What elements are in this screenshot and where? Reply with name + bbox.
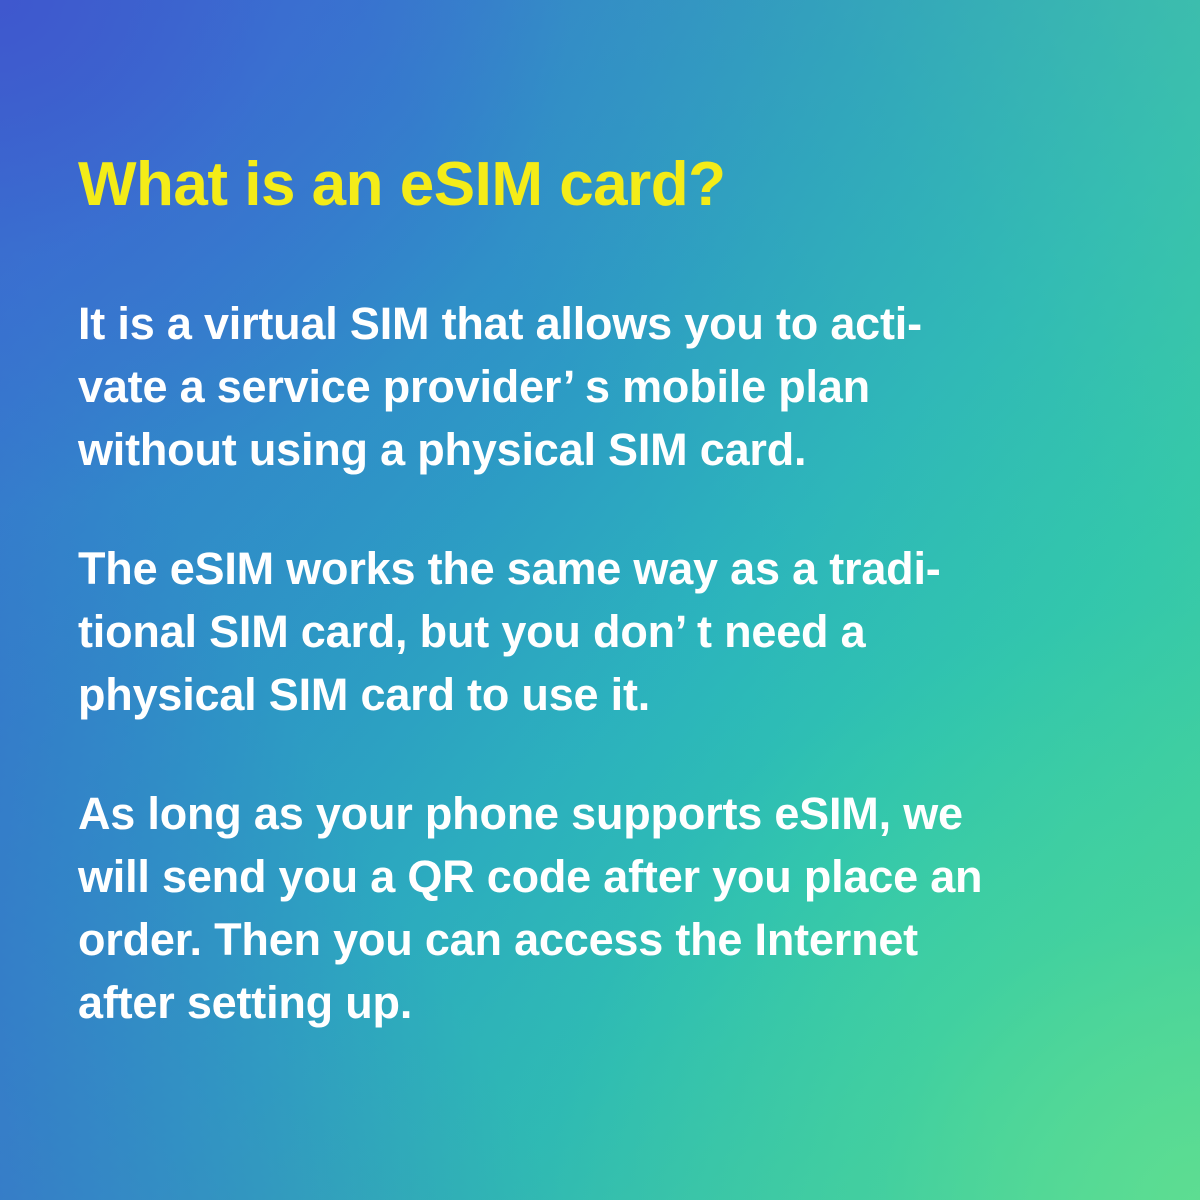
esim-info-poster: What is an eSIM card? It is a virtual SI… [0,0,1200,1200]
body-text-block: It is a virtual SIM that allows you to a… [78,292,1058,1034]
paragraph-qr-delivery: As long as your phone supports eSIM, we … [78,782,1058,1034]
poster-content: What is an eSIM card? It is a virtual SI… [78,0,1078,1200]
paragraph-how-it-works: The eSIM works the same way as a tradi- … [78,537,1058,726]
paragraph-definition: It is a virtual SIM that allows you to a… [78,292,1058,481]
page-title: What is an eSIM card? [78,152,726,217]
